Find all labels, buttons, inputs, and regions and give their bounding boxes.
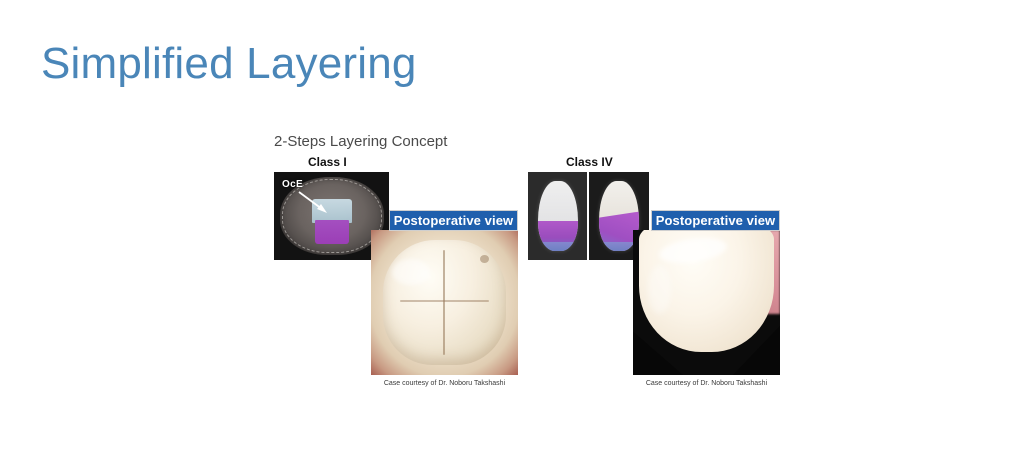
postoperative-view-banner-class-1: Postoperative view <box>389 210 518 231</box>
dentin-layer-shape <box>315 220 349 244</box>
postoperative-view-banner-class-4: Postoperative view <box>651 210 780 231</box>
photo-class-4-postoperative <box>633 230 780 375</box>
anterior-tooth-shape <box>538 181 578 251</box>
occlusal-pit-shape <box>480 255 489 263</box>
diagram-class-4-facial <box>528 172 587 260</box>
enamel-highlight-shape <box>392 259 430 285</box>
oce-label: OcE <box>282 179 303 190</box>
case-class-4-title: Class IV <box>528 155 613 169</box>
figure-container: 2-Steps Layering Concept Class I OcE Pos… <box>274 133 780 388</box>
transverse-fissure-shape <box>400 300 488 302</box>
case-class-1-title: Class I <box>274 155 347 169</box>
central-fissure-shape <box>443 250 445 354</box>
credit-class-4: Case courtesy of Dr. Noboru Takshashi <box>633 379 780 388</box>
photo-class-1-postoperative <box>371 230 518 375</box>
page-title: Simplified Layering <box>41 38 417 90</box>
incisal-edge-shape <box>538 242 578 251</box>
figure-caption: 2-Steps Layering Concept <box>274 133 447 151</box>
credit-class-1: Case courtesy of Dr. Noboru Takshashi <box>371 379 518 388</box>
enamel-highlight-secondary-shape <box>648 265 672 314</box>
